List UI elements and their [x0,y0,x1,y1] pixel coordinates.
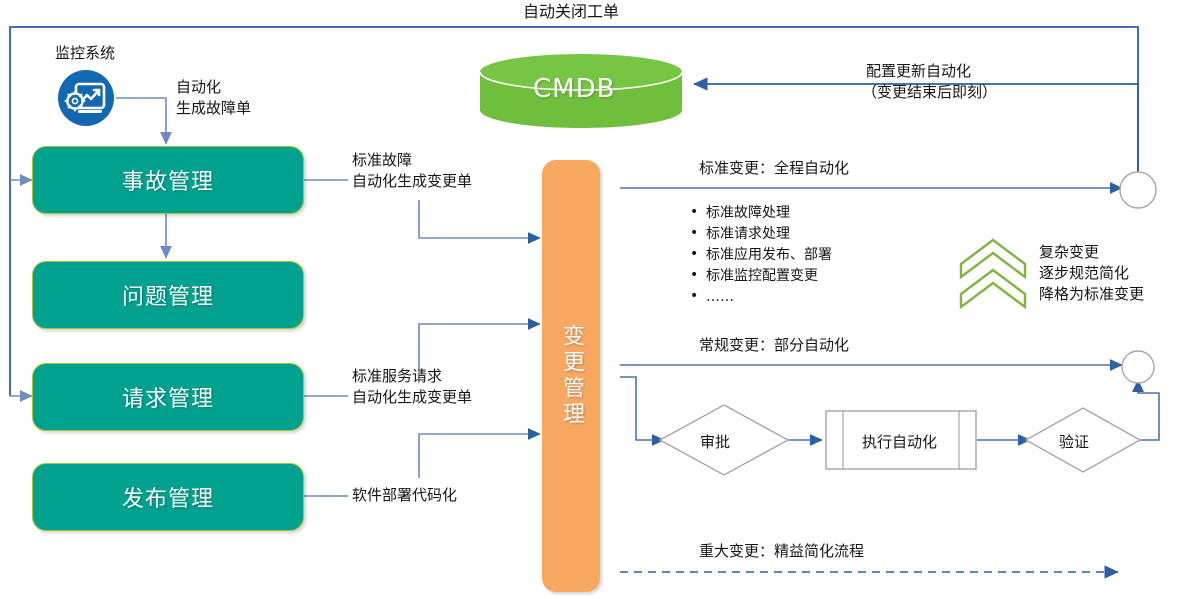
list-item: …… [688,287,832,308]
approval-label: 审批 [700,431,730,452]
diagram-canvas: CMDB [0,0,1191,599]
cmdb-edge-label-line2: （变更结束后即刻） [862,83,997,102]
list-item: 标准故障处理 [688,203,832,224]
escalation-note-line3: 降格为标准变更 [1039,285,1144,304]
auto-close-ticket-label: 自动关闭工单 [523,2,619,21]
escalation-note-line1: 复杂变更 [1039,243,1099,262]
process-box-problem[interactable]: 问题管理 [32,261,304,329]
request-edge-label-line1: 标准服务请求 [352,367,442,386]
change-management-label: 变更管理 [555,324,587,428]
lane-label-normal: 常规变更：部分自动化 [699,336,849,355]
list-item: 标准监控配置变更 [688,266,832,287]
monitoring-edge-label-line1: 自动化 [176,78,221,97]
monitoring-system-label: 监控系统 [55,44,115,63]
process-label-incident: 事故管理 [122,164,214,196]
process-label-release: 发布管理 [122,481,214,513]
monitoring-edge-label-line2: 生成故障单 [176,99,251,118]
list-item: 标准请求处理 [688,224,832,245]
execution-label: 执行自动化 [862,431,937,452]
list-item: 标准应用发布、部署 [688,245,832,266]
process-box-release[interactable]: 发布管理 [32,463,304,531]
standard-change-item-list: 标准故障处理 标准请求处理 标准应用发布、部署 标准监控配置变更 …… [688,203,832,308]
lane-label-standard: 标准变更：全程自动化 [699,159,849,178]
cmdb-edge-label-line1: 配置更新自动化 [866,62,971,81]
change-management-box[interactable]: 变更管理 [542,160,600,592]
incident-edge-label-line2: 自动化生成变更单 [352,172,472,191]
request-edge-label-line2: 自动化生成变更单 [352,388,472,407]
process-box-request[interactable]: 请求管理 [32,363,304,431]
process-box-incident[interactable]: 事故管理 [32,146,304,214]
release-edge-label: 软件部署代码化 [352,486,457,505]
verify-label: 验证 [1059,431,1089,452]
lane-label-major: 重大变更：精益简化流程 [699,542,864,561]
monitoring-dashboard-icon [58,70,114,126]
process-label-request: 请求管理 [122,381,214,413]
incident-edge-label-line1: 标准故障 [352,151,412,170]
escalation-note-line2: 逐步规范简化 [1039,264,1129,283]
process-label-problem: 问题管理 [122,279,214,311]
double-chevron-up-icon [961,240,1025,307]
